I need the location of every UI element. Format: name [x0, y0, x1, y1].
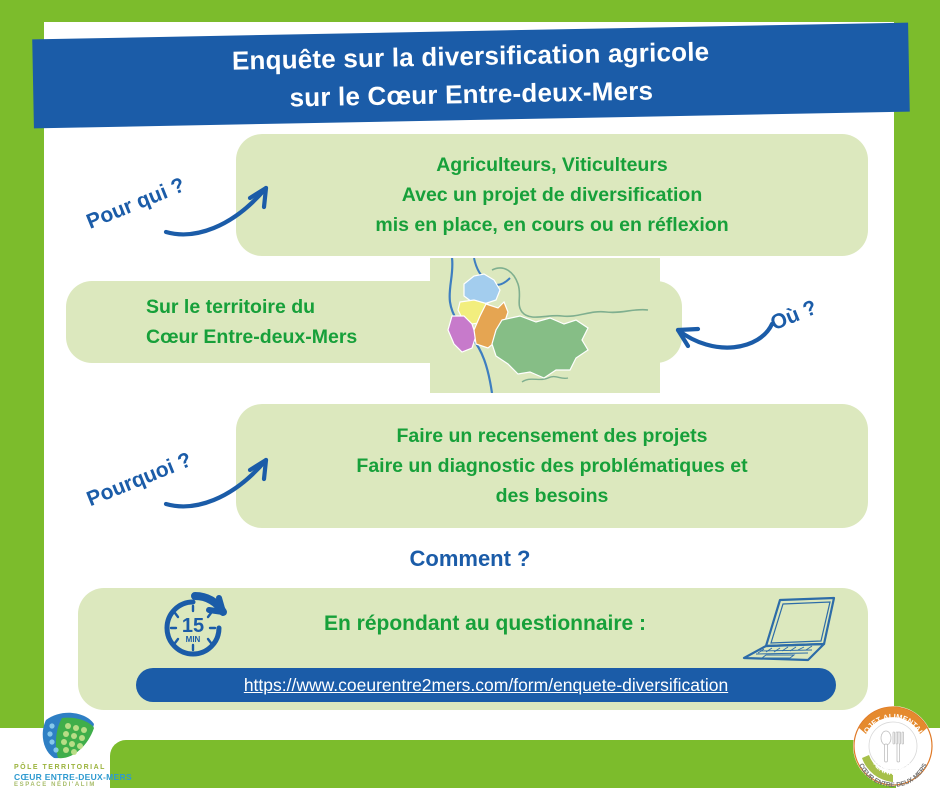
top-green-band	[0, 0, 940, 22]
ou-line-1: Sur le territoire du	[146, 292, 315, 322]
pourquoi-line-2: Faire un diagnostic des problématiques e…	[356, 451, 747, 481]
section-pourquoi-box: Faire un recensement des projets Faire u…	[236, 404, 868, 528]
pourquoi-line-3: des besoins	[496, 481, 609, 511]
logo-line-1: PÔLE TERRITORIAL	[14, 764, 180, 772]
laptop-icon	[736, 588, 842, 668]
territory-map-svg	[430, 258, 660, 393]
survey-url-pill[interactable]: https://www.coeurentre2mers.com/form/enq…	[136, 668, 836, 702]
section-pour-qui-box: Agriculteurs, Viticulteurs Avec un proje…	[236, 134, 868, 256]
logo-line-3: ESPACE NÉDI'ALIM	[14, 782, 180, 788]
logo-text-block: PÔLE TERRITORIAL CŒUR ENTRE-DEUX-MERS ES…	[14, 764, 180, 788]
pourquoi-line-1: Faire un recensement des projets	[396, 421, 707, 451]
logo-line-2: CŒUR ENTRE-DEUX-MERS	[14, 772, 180, 782]
bottom-green-band	[110, 740, 896, 788]
territory-map	[430, 258, 660, 393]
clock-15-min-icon: 15 MIN	[155, 592, 231, 664]
pole-territorial-logo: PÔLE TERRITORIAL CŒUR ENTRE-DEUX-MERS ES…	[6, 710, 186, 786]
title-line-2: sur le Cœur Entre-deux-Mers	[289, 73, 653, 118]
curved-arrow-ou-icon	[660, 302, 780, 362]
right-green-band	[894, 0, 940, 788]
survey-url-link[interactable]: https://www.coeurentre2mers.com/form/enq…	[244, 675, 728, 696]
pour-qui-line-3: mis en place, en cours ou en réflexion	[375, 210, 728, 240]
curved-arrow-pour-qui-icon	[160, 178, 290, 240]
page-title: Enquête sur la diversification agricole …	[32, 26, 909, 127]
comment-heading: Comment ?	[0, 546, 940, 572]
ou-line-2: Cœur Entre-deux-Mers	[146, 322, 357, 352]
pour-qui-line-2: Avec un projet de diversification	[402, 180, 703, 210]
leaf-logo-icon	[40, 710, 98, 762]
curved-arrow-pourquoi-icon	[160, 450, 290, 512]
pour-qui-line-1: Agriculteurs, Viticulteurs	[436, 150, 668, 180]
clock-value: 15	[182, 615, 204, 637]
questionnaire-text: En répondant au questionnaire :	[250, 612, 720, 636]
infographic-poster: Enquête sur la diversification agricole …	[0, 0, 940, 788]
clock-unit: MIN	[186, 635, 201, 644]
projet-alimentaire-territorial-badge: PROJET ALIMENTAIRE TERRITORIAL CŒUR ENTR…	[846, 704, 940, 788]
